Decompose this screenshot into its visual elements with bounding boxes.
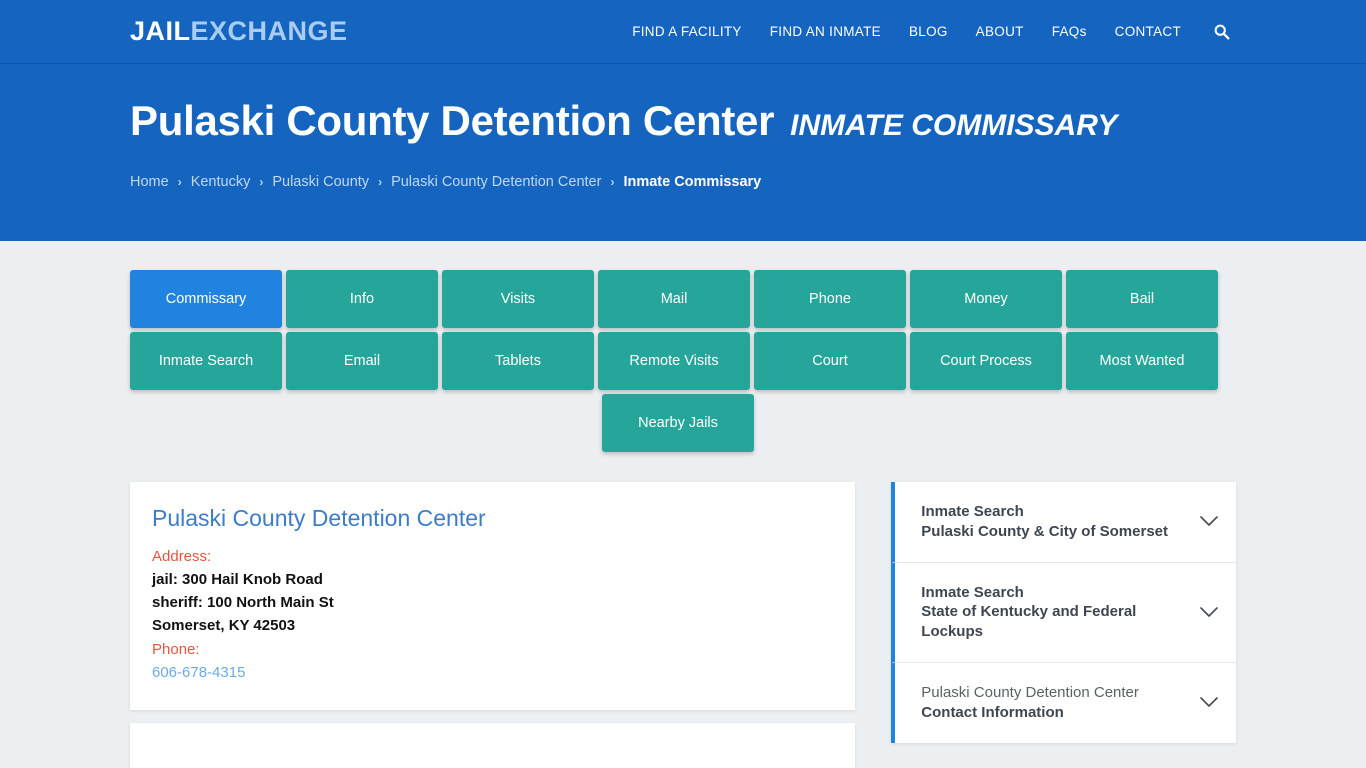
tab-remote-visits[interactable]: Remote Visits <box>598 332 750 390</box>
breadcrumb-item-pulaski-county[interactable]: Pulaski County <box>272 174 369 190</box>
address-line-city: Somerset, KY 42503 <box>152 614 833 637</box>
hero-facility-title: Pulaski County Detention Center <box>130 99 774 143</box>
facility-info-card: Pulaski County Detention Center Address:… <box>130 482 855 710</box>
breadcrumb-separator: › <box>259 175 263 189</box>
sidebar-item-label: Inmate Search Pulaski County & City of S… <box>921 502 1186 542</box>
chevron-down-icon[interactable] <box>1198 601 1220 623</box>
section-tab-grid: Commissary Info Visits Mail Phone Money … <box>130 241 1226 452</box>
hero-section-title: INMATE COMMISSARY <box>790 109 1117 143</box>
nav-about[interactable]: ABOUT <box>962 24 1038 39</box>
content-columns: Pulaski County Detention Center Address:… <box>130 452 1236 768</box>
tab-nearby-jails[interactable]: Nearby Jails <box>602 394 754 452</box>
tab-visits[interactable]: Visits <box>442 270 594 328</box>
sidebar-item-line2: Pulaski County & City of Somerset <box>921 522 1186 542</box>
tab-bail[interactable]: Bail <box>1066 270 1218 328</box>
breadcrumb-item-home[interactable]: Home <box>130 174 169 190</box>
page-content: Commissary Info Visits Mail Phone Money … <box>0 241 1366 768</box>
breadcrumb-separator: › <box>178 175 182 189</box>
nav-faqs[interactable]: FAQs <box>1038 24 1101 39</box>
chevron-down-icon[interactable] <box>1198 511 1220 533</box>
sidebar-item-inmate-search-state[interactable]: Inmate Search State of Kentucky and Fede… <box>891 563 1236 663</box>
hero-banner: Pulaski County Detention Center INMATE C… <box>0 64 1366 241</box>
logo-text-exchange: EXCHANGE <box>191 16 348 46</box>
tab-mail[interactable]: Mail <box>598 270 750 328</box>
breadcrumb-item-kentucky[interactable]: Kentucky <box>191 174 251 190</box>
tab-court-process[interactable]: Court Process <box>910 332 1062 390</box>
tab-email[interactable]: Email <box>286 332 438 390</box>
tab-commissary[interactable]: Commissary <box>130 270 282 328</box>
site-logo[interactable]: JAILEXCHANGE <box>130 18 348 45</box>
breadcrumb: Home › Kentucky › Pulaski County › Pulas… <box>130 174 1236 190</box>
facility-name-link[interactable]: Pulaski County Detention Center <box>152 505 833 533</box>
tab-court[interactable]: Court <box>754 332 906 390</box>
sidebar-column: Inmate Search Pulaski County & City of S… <box>891 482 1236 768</box>
phone-label: Phone: <box>152 638 833 661</box>
address-label: Address: <box>152 545 833 568</box>
sidebar-item-line2: Contact Information <box>921 703 1186 723</box>
nav-find-a-facility[interactable]: FIND A FACILITY <box>618 24 756 39</box>
tab-most-wanted[interactable]: Most Wanted <box>1066 332 1218 390</box>
tab-inmate-search[interactable]: Inmate Search <box>130 332 282 390</box>
search-icon[interactable] <box>1195 23 1236 40</box>
logo-text-jail: JAIL <box>130 16 191 46</box>
address-line-sheriff: sheriff: 100 North Main St <box>152 591 833 614</box>
site-header: JAILEXCHANGE FIND A FACILITY FIND AN INM… <box>0 0 1366 64</box>
tab-phone[interactable]: Phone <box>754 270 906 328</box>
chevron-down-icon[interactable] <box>1198 692 1220 714</box>
tab-info[interactable]: Info <box>286 270 438 328</box>
tab-money[interactable]: Money <box>910 270 1062 328</box>
tab-tablets[interactable]: Tablets <box>442 332 594 390</box>
nav-contact[interactable]: CONTACT <box>1101 24 1195 39</box>
breadcrumb-item-facility[interactable]: Pulaski County Detention Center <box>391 174 601 190</box>
breadcrumb-separator: › <box>610 175 614 189</box>
sidebar-accordion: Inmate Search Pulaski County & City of S… <box>891 482 1236 743</box>
sidebar-item-line1: Pulaski County Detention Center <box>921 683 1186 703</box>
sidebar-item-line2: State of Kentucky and Federal Lockups <box>921 602 1186 642</box>
main-column: Pulaski County Detention Center Address:… <box>130 482 855 768</box>
sidebar-item-line1: Inmate Search <box>921 502 1186 522</box>
secondary-content-card <box>130 723 855 768</box>
address-line-jail: jail: 300 Hail Knob Road <box>152 568 833 591</box>
page-title: Pulaski County Detention Center INMATE C… <box>130 64 1236 143</box>
sidebar-item-label: Inmate Search State of Kentucky and Fede… <box>921 583 1186 642</box>
nav-blog[interactable]: BLOG <box>895 24 962 39</box>
main-navigation: FIND A FACILITY FIND AN INMATE BLOG ABOU… <box>618 23 1236 40</box>
phone-number-link[interactable]: 606-678-4315 <box>152 661 245 684</box>
sidebar-item-line1: Inmate Search <box>921 583 1186 603</box>
tab-row-last: Nearby Jails <box>130 394 1226 452</box>
sidebar-item-contact-information[interactable]: Pulaski County Detention Center Contact … <box>891 663 1236 743</box>
nav-find-an-inmate[interactable]: FIND AN INMATE <box>756 24 895 39</box>
sidebar-item-inmate-search-county[interactable]: Inmate Search Pulaski County & City of S… <box>891 482 1236 563</box>
breadcrumb-item-current: Inmate Commissary <box>623 174 761 190</box>
sidebar-item-label: Pulaski County Detention Center Contact … <box>921 683 1186 723</box>
breadcrumb-separator: › <box>378 175 382 189</box>
